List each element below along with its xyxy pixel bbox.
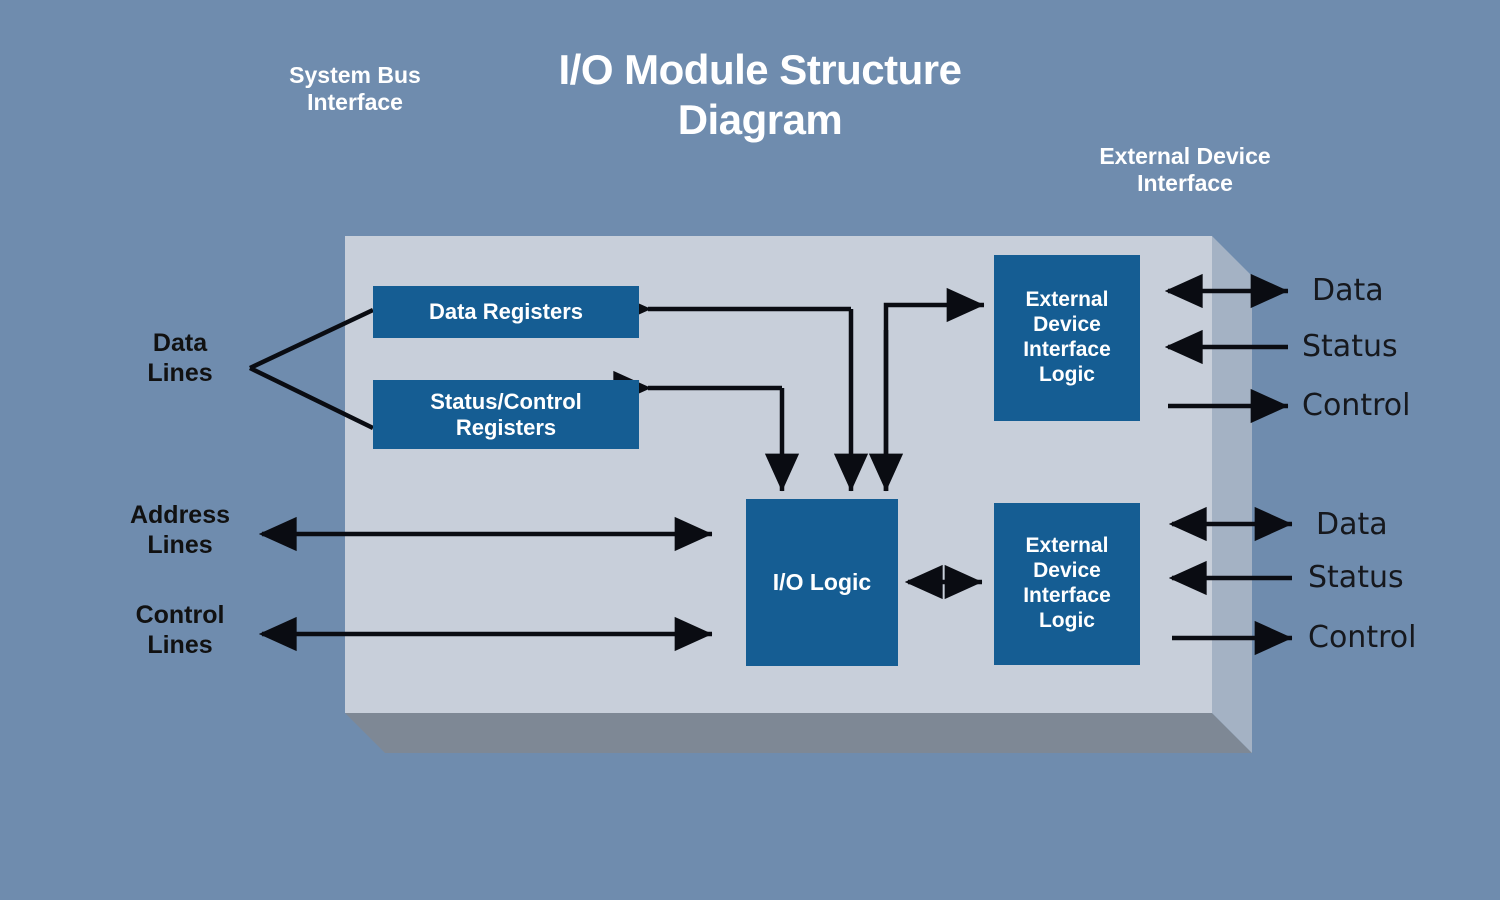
panel-right-face	[1212, 236, 1252, 753]
box-io-logic[interactable]: I/O Logic	[746, 499, 898, 666]
signal-label-control-top: Control	[1302, 391, 1410, 421]
signal-label-status-bottom: Status	[1308, 563, 1404, 593]
system-bus-interface-label: System Bus Interface	[235, 62, 475, 116]
box-status-control-registers[interactable]: Status/Control Registers	[373, 380, 639, 449]
box-external-device-interface-logic-top[interactable]: External Device Interface Logic	[994, 255, 1140, 421]
box-data-registers[interactable]: Data Registers	[373, 286, 639, 338]
signal-label-control-bottom: Control	[1308, 623, 1416, 653]
box-external-device-interface-logic-bottom[interactable]: External Device Interface Logic	[994, 503, 1140, 665]
bus-label-data-lines: Data Lines	[100, 328, 260, 388]
external-device-interface-label: External Device Interface	[1040, 143, 1330, 197]
panel-bottom-face	[345, 713, 1252, 753]
signal-label-status-top: Status	[1302, 332, 1398, 362]
bus-label-address-lines: Address Lines	[100, 500, 260, 560]
bus-label-control-lines: Control Lines	[100, 600, 260, 660]
signal-label-data-top: Data	[1312, 276, 1384, 306]
diagram-canvas: I/O Module Structure Diagram System Bus …	[0, 0, 1500, 900]
page-title: I/O Module Structure Diagram	[450, 45, 1070, 144]
signal-label-data-bottom: Data	[1316, 510, 1388, 540]
